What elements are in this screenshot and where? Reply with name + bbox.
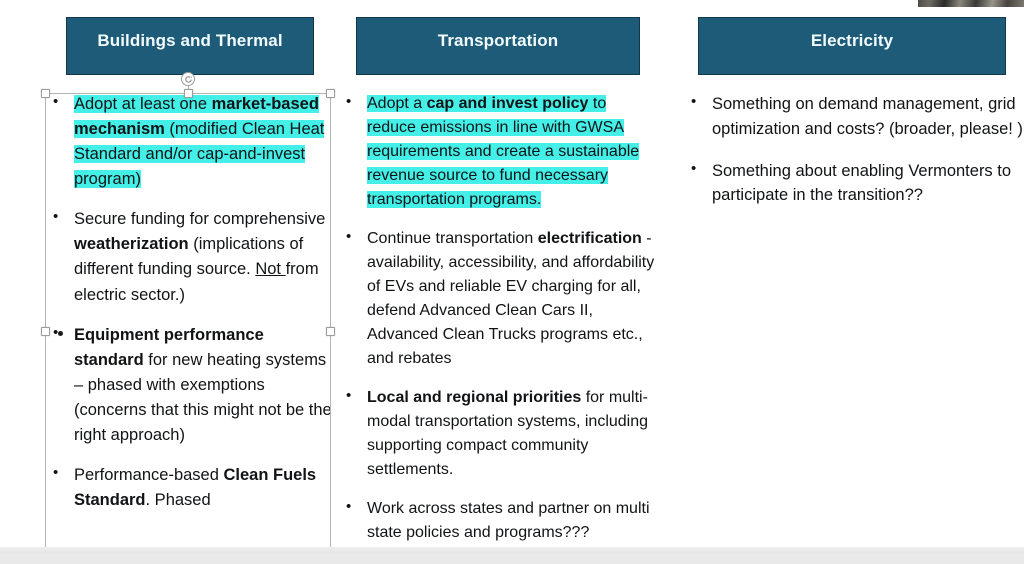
bullet-text-buildings-1: Adopt at least one market-based mechanis… [74,92,333,192]
list-item: Something about enabling Vermonters to p… [683,159,1023,209]
list-item: Work across states and partner on multi … [338,497,656,545]
bullet-text-transportation-1: Adopt a cap and invest policy to reduce … [367,92,656,212]
bullet-list-buildings: Adopt at least one market-based mechanis… [45,92,333,513]
column-header-electricity-label: Electricity [811,31,893,51]
bullet-text-buildings-4: Performance-based Clean Fuels Standard. … [74,463,333,513]
list-item: Continue transportation electrification … [338,227,656,371]
column-header-electricity[interactable]: Electricity [698,17,1006,75]
bullet-list-transportation: Adopt a cap and invest policy to reduce … [338,92,656,545]
list-item: Adopt a cap and invest policy to reduce … [338,92,656,212]
cursor-dot-marker [58,331,63,336]
bullet-text-transportation-3: Local and regional priorities for multi-… [367,386,656,482]
presentation-slide: Buildings and Thermal Transportation Ele… [0,0,1024,564]
bullet-list-electricity: Something on demand management, grid opt… [683,92,1023,208]
column-header-transportation-label: Transportation [438,31,558,51]
bullet-text-buildings-2: Secure funding for comprehensive weather… [74,207,333,307]
list-item: Secure funding for comprehensive weather… [45,207,333,307]
list-item: Performance-based Clean Fuels Standard. … [45,463,333,513]
list-item: Local and regional priorities for multi-… [338,386,656,482]
column-header-buildings[interactable]: Buildings and Thermal [66,17,314,75]
column-header-buildings-label: Buildings and Thermal [97,31,282,51]
bullet-text-buildings-3: Equipment performance standard for new h… [74,323,333,448]
content-column-transportation[interactable]: Adopt a cap and invest policy to reduce … [338,92,656,545]
bullet-text-electricity-2: Something about enabling Vermonters to p… [712,159,1023,209]
bullet-text-transportation-2: Continue transportation electrification … [367,227,656,371]
content-column-buildings[interactable]: Adopt at least one market-based mechanis… [45,92,333,513]
video-thumbnail[interactable] [918,0,1024,7]
list-item: Equipment performance standard for new h… [45,323,333,448]
bullet-text-transportation-4: Work across states and partner on multi … [367,497,656,545]
list-item: Adopt at least one market-based mechanis… [45,92,333,192]
content-column-electricity[interactable]: Something on demand management, grid opt… [683,92,1023,225]
list-item: Something on demand management, grid opt… [683,92,1023,142]
bullet-text-electricity-1: Something on demand management, grid opt… [712,92,1023,142]
column-header-transportation[interactable]: Transportation [356,17,640,75]
bottom-strip-gradient [0,547,1024,553]
bottom-toolbar-strip [0,547,1024,564]
